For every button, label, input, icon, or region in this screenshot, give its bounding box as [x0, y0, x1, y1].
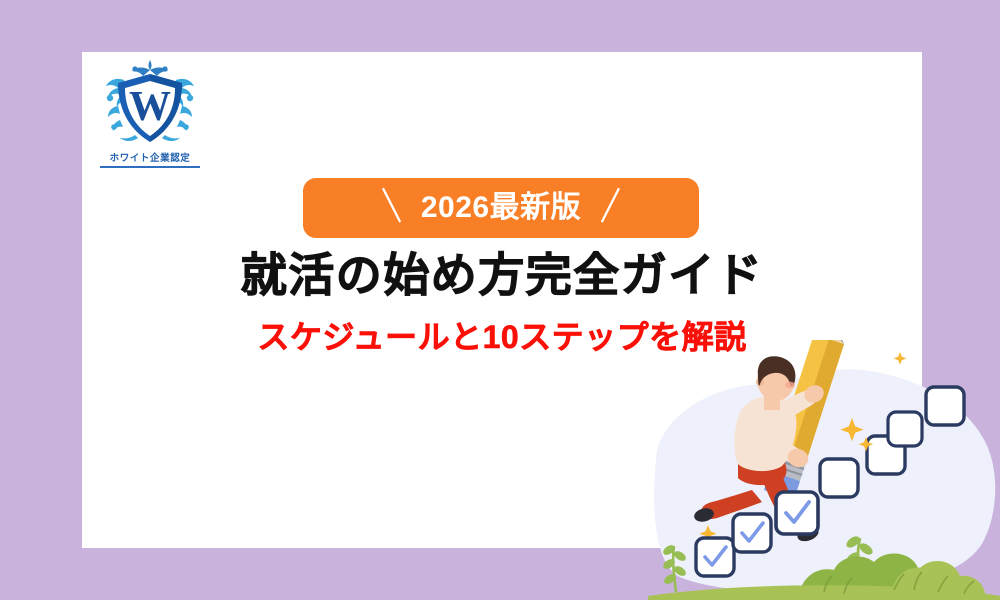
poster-canvas: W ホワイト企業認定 ＼ 2026最新版 ／ 就活の始め方完全ガイド スケジュー…	[0, 0, 1000, 600]
caption-underline	[100, 166, 200, 168]
badge-slash-right-icon: ／	[593, 189, 630, 226]
badge-label: 2026最新版	[421, 193, 581, 223]
check-icon-1	[705, 547, 726, 565]
badge-slash-left-icon: ＼	[372, 189, 409, 226]
content-card: W ホワイト企業認定 ＼ 2026最新版 ／ 就活の始め方完全ガイド スケジュー…	[82, 52, 922, 548]
certification-caption: ホワイト企業認定	[94, 150, 206, 164]
shield-letter-w: W	[129, 84, 171, 130]
new-edition-badge: ＼ 2026最新版 ／	[303, 178, 699, 238]
page-subtitle: スケジュールと10ステップを解説	[82, 318, 922, 356]
certification-logo: W ホワイト企業認定	[94, 58, 206, 176]
checkbox-unchecked-4	[926, 387, 964, 425]
fern-sprig-left	[662, 544, 687, 592]
ground-strip	[648, 585, 1000, 600]
page-title: 就活の始め方完全ガイド	[82, 248, 922, 302]
headline-block: 就活の始め方完全ガイド スケジュールと10ステップを解説	[82, 248, 922, 357]
shield-icon: W	[94, 58, 206, 150]
foliage-blade-details	[824, 572, 974, 594]
bush-large-right	[798, 553, 950, 600]
bush-far-right	[892, 561, 986, 600]
